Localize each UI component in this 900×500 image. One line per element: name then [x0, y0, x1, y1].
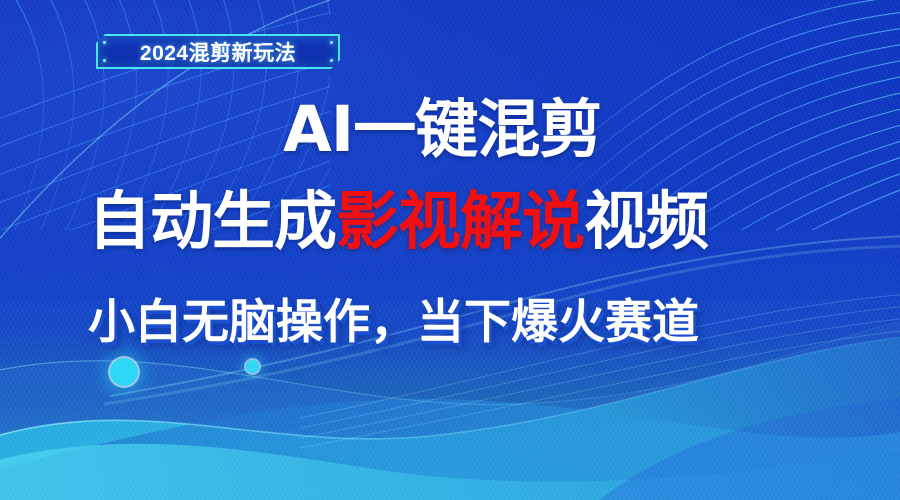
- headline-line-2-prefix: 自动生成: [88, 185, 336, 258]
- headline-line-2: 自动生成影视解说视频: [88, 188, 708, 256]
- headline-line-2-highlight: 影视解说: [336, 185, 584, 258]
- promo-poster: 2024混剪新玩法 AI一键混剪 自动生成影视解说视频 小白无脑操作，当下爆火赛…: [0, 0, 900, 500]
- headline-block: AI一键混剪 自动生成影视解说视频 小白无脑操作，当下爆火赛道: [0, 0, 900, 500]
- headline-line-1: AI一键混剪: [283, 96, 601, 164]
- badge-label: 2024混剪新玩法: [140, 37, 296, 67]
- headline-line-2-suffix: 视频: [584, 185, 708, 258]
- headline-line-3: 小白无脑操作，当下爆火赛道: [88, 297, 699, 349]
